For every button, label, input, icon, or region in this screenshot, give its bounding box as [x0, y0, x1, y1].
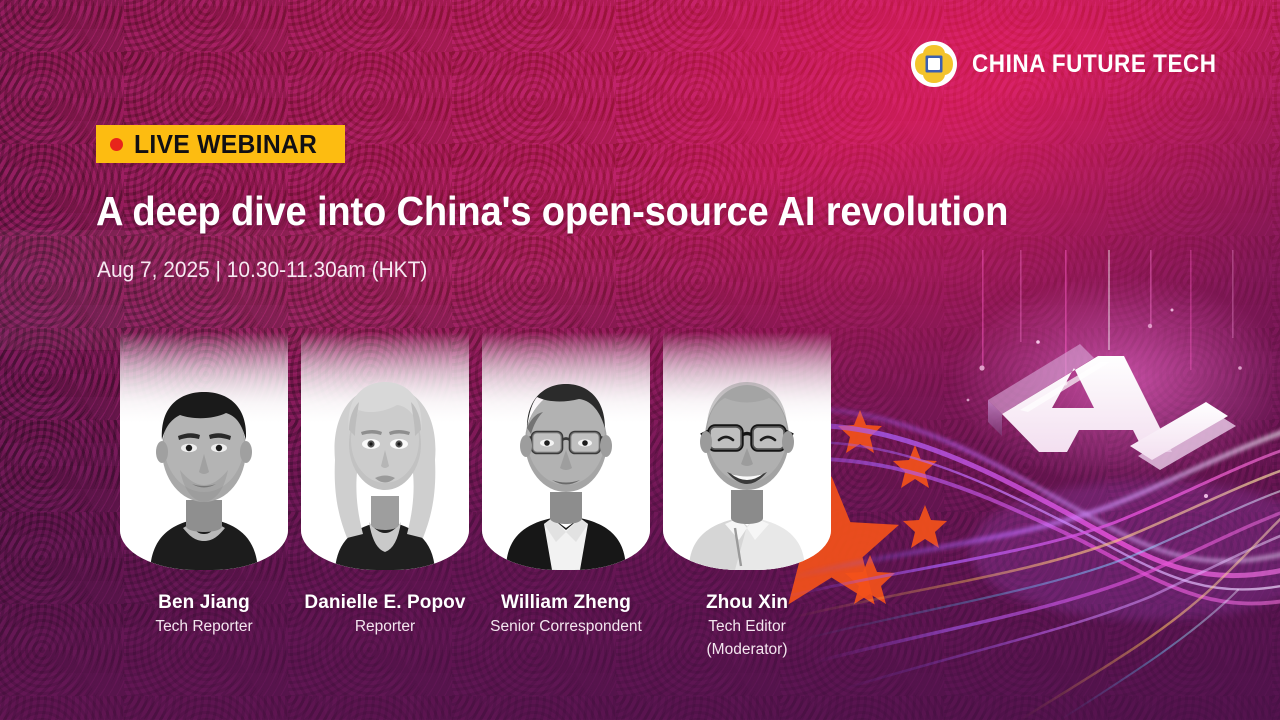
brand-logo[interactable]: CHINA FUTURE TECH [910, 40, 1244, 88]
speaker-name: William Zheng [501, 592, 631, 614]
speaker-name: Ben Jiang [158, 592, 250, 614]
speaker-card[interactable]: William Zheng Senior Correspondent [482, 332, 650, 637]
portrait-william-zheng [482, 332, 650, 570]
live-dot-icon [110, 138, 123, 151]
speaker-role: Tech Reporter [155, 617, 252, 637]
page-title: A deep dive into China's open-source AI … [96, 188, 1008, 235]
portrait-ben-jiang [120, 332, 288, 570]
speaker-name: Zhou Xin [706, 592, 788, 614]
portrait-danielle-e-popov [301, 332, 469, 570]
webinar-poster: CHINA FUTURE TECH LIVE WEBINAR A deep di… [0, 0, 1280, 720]
speaker-name: Danielle E. Popov [304, 592, 465, 614]
speaker-role: Tech Editor [708, 617, 786, 637]
speaker-role: Reporter [355, 617, 415, 637]
speaker-card[interactable]: Zhou Xin Tech Editor (Moderator) [663, 332, 831, 660]
speaker-card[interactable]: Ben Jiang Tech Reporter [120, 332, 288, 637]
flower-square-logo-icon [910, 40, 958, 88]
speaker-role-secondary: (Moderator) [707, 640, 788, 660]
live-webinar-badge: LIVE WEBINAR [96, 125, 345, 163]
portrait-zhou-xin [663, 332, 831, 570]
speaker-list: Ben Jiang Tech Reporter [120, 332, 831, 660]
brand-name: CHINA FUTURE TECH [972, 50, 1217, 79]
speaker-card[interactable]: Danielle E. Popov Reporter [301, 332, 469, 637]
speaker-role: Senior Correspondent [490, 617, 642, 637]
live-webinar-label: LIVE WEBINAR [134, 131, 317, 157]
webinar-datetime: Aug 7, 2025 | 10.30-11.30am (HKT) [97, 257, 427, 283]
